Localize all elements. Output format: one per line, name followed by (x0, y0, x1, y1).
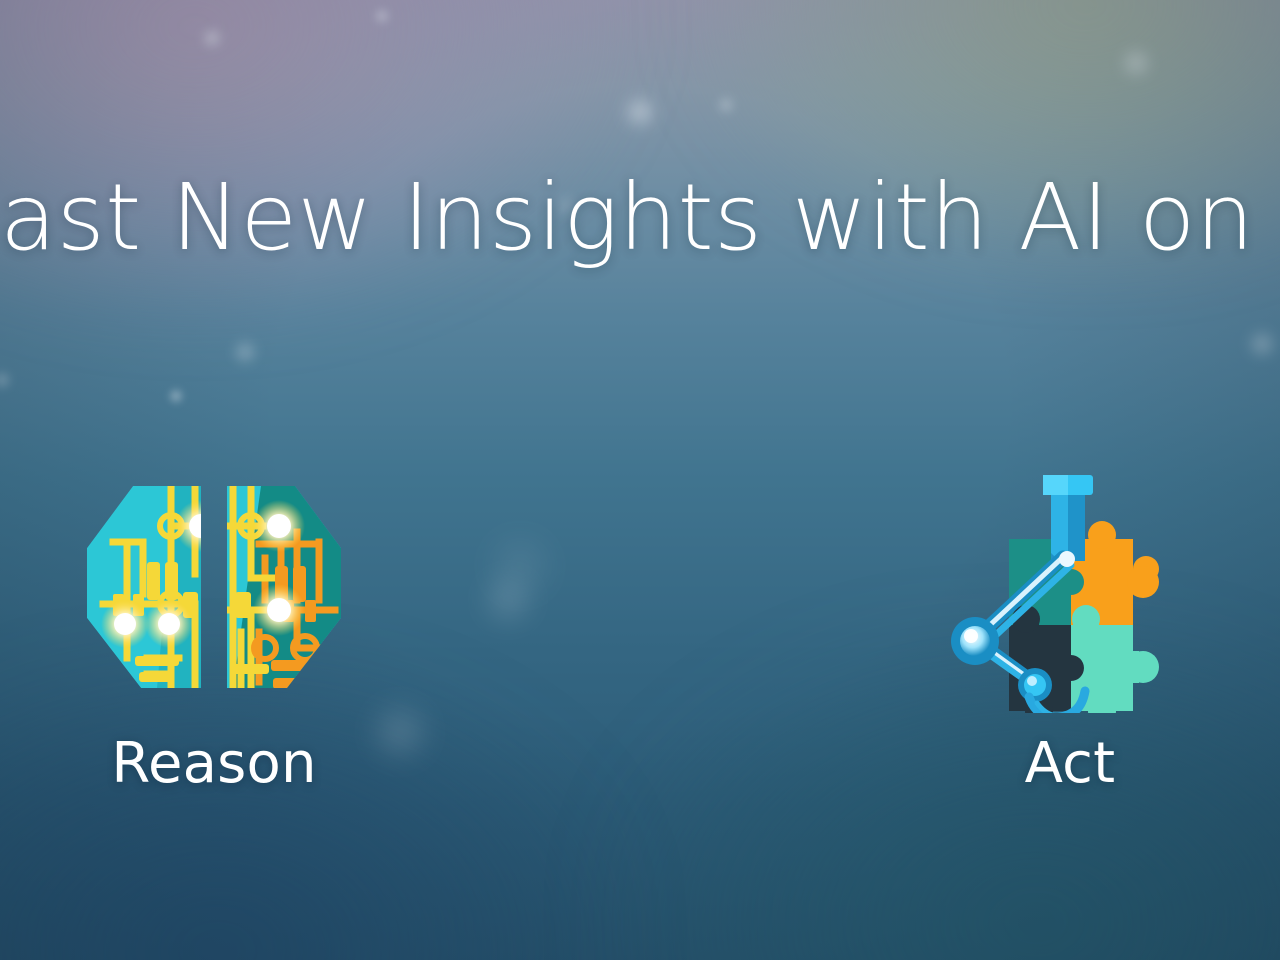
slide-title-text: ast New Insights with AI on In (0, 168, 1280, 267)
robot-arm-puzzle-icon (947, 473, 1193, 713)
slide-title: ast New Insights with AI on In (0, 168, 1280, 267)
circuit-brain-icon (83, 482, 345, 704)
slide-canvas: ast New Insights with AI on In (0, 0, 1280, 960)
feature-reason-icon-wrap (44, 470, 384, 715)
feature-row: Reason (0, 470, 1280, 870)
feature-act-label: Act (900, 731, 1240, 796)
feature-reason-label: Reason (44, 731, 384, 796)
feature-act-icon-wrap (900, 470, 1240, 715)
feature-act[interactable]: Act (900, 470, 1240, 796)
feature-reason[interactable]: Reason (44, 470, 384, 796)
